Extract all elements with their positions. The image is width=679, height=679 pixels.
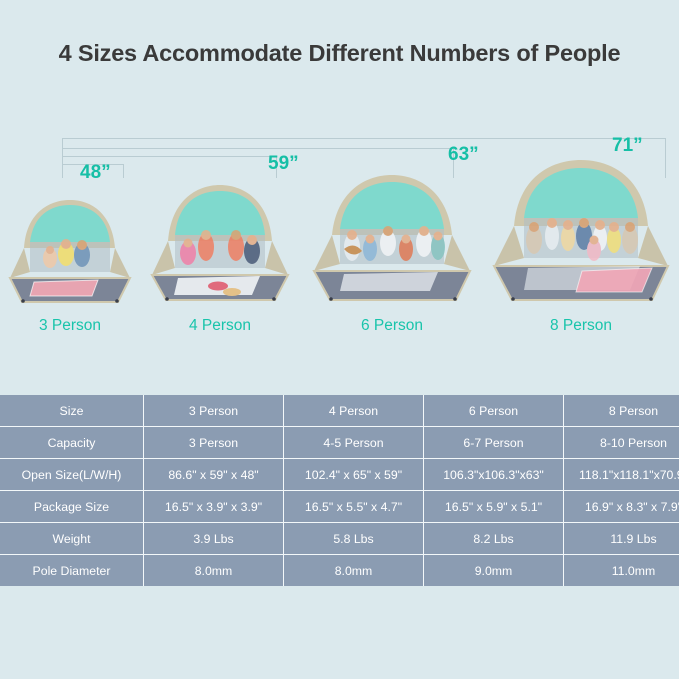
tent-comparison-stage: 48” 59”: [0, 118, 679, 358]
person-label-3-person: 3 Person: [6, 317, 134, 335]
person-label-6-person: 6 Person: [310, 317, 474, 335]
table-row: Package Size 16.5" x 3.9" x 3.9" 16.5" x…: [0, 491, 679, 523]
row-header: Size: [0, 395, 144, 427]
table-cell: 3.9 Lbs: [144, 523, 284, 555]
height-label-3-person: 48”: [80, 162, 111, 184]
table-cell: 16.9" x 8.3" x 7.9": [564, 491, 679, 523]
table-row: Pole Diameter 8.0mm 8.0mm 9.0mm 11.0mm: [0, 555, 679, 587]
table-cell: 106.3"x106.3"x63": [424, 459, 564, 491]
table-cell: 4-5 Person: [284, 427, 424, 459]
row-header: Package Size: [0, 491, 144, 523]
tent-4-person: [148, 181, 292, 306]
tent-8-person: [490, 156, 672, 306]
table-cell: 8.0mm: [284, 555, 424, 587]
table-row: Open Size(L/W/H) 86.6" x 59" x 48" 102.4…: [0, 459, 679, 491]
table-cell: 3 Person: [144, 395, 284, 427]
table-cell: 118.1"x118.1"x70.9": [564, 459, 679, 491]
table-cell: 16.5" x 5.9" x 5.1": [424, 491, 564, 523]
height-label-8-person: 71”: [612, 135, 643, 157]
height-label-6-person: 63”: [448, 144, 479, 166]
table-row: Size 3 Person 4 Person 6 Person 8 Person: [0, 395, 679, 427]
table-row: Capacity 3 Person 4-5 Person 6-7 Person …: [0, 427, 679, 459]
table-cell: 16.5" x 3.9" x 3.9": [144, 491, 284, 523]
table-cell: 102.4" x 65" x 59": [284, 459, 424, 491]
table-cell: 8.2 Lbs: [424, 523, 564, 555]
tent-3-person: [6, 196, 134, 306]
table-cell: 9.0mm: [424, 555, 564, 587]
table-cell: 3 Person: [144, 427, 284, 459]
specification-table: Size 3 Person 4 Person 6 Person 8 Person…: [0, 395, 679, 586]
table-cell: 4 Person: [284, 395, 424, 427]
table-cell: 5.8 Lbs: [284, 523, 424, 555]
table-cell: 8.0mm: [144, 555, 284, 587]
table-cell: 86.6" x 59" x 48": [144, 459, 284, 491]
row-header: Capacity: [0, 427, 144, 459]
person-label-4-person: 4 Person: [148, 317, 292, 335]
person-label-8-person: 8 Person: [490, 317, 672, 335]
tent-6-person: [310, 171, 474, 306]
row-header: Pole Diameter: [0, 555, 144, 587]
table-cell: 11.0mm: [564, 555, 679, 587]
page-title: 4 Sizes Accommodate Different Numbers of…: [0, 40, 679, 67]
table-cell: 6 Person: [424, 395, 564, 427]
table-cell: 6-7 Person: [424, 427, 564, 459]
table-row: Weight 3.9 Lbs 5.8 Lbs 8.2 Lbs 11.9 Lbs: [0, 523, 679, 555]
table-cell: 11.9 Lbs: [564, 523, 679, 555]
table-cell: 8-10 Person: [564, 427, 679, 459]
height-label-4-person: 59”: [268, 153, 299, 175]
table-cell: 16.5" x 5.5" x 4.7": [284, 491, 424, 523]
row-header: Open Size(L/W/H): [0, 459, 144, 491]
row-header: Weight: [0, 523, 144, 555]
table-cell: 8 Person: [564, 395, 679, 427]
spec-table-body: Size 3 Person 4 Person 6 Person 8 Person…: [0, 395, 679, 586]
